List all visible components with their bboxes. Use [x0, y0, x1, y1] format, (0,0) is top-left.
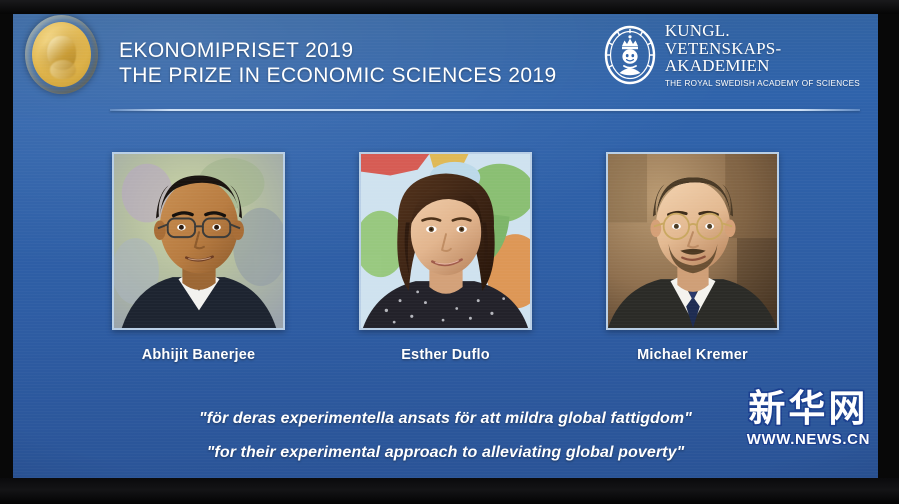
slide-header: EKONOMIPRISET 2019 THE PRIZE IN ECONOMIC… — [13, 14, 878, 96]
laureate-name: Esther Duflo — [401, 347, 490, 363]
header-divider — [110, 109, 860, 111]
laureates-row: Abhijit Banerjee — [13, 152, 878, 363]
xinhua-logo-text: 新华网 — [747, 389, 870, 429]
title-english: THE PRIZE IN ECONOMIC SCIENCES 2019 — [119, 63, 557, 88]
medal-profile-relief-lower — [50, 60, 76, 80]
portrait-esther-duflo — [359, 152, 532, 330]
laureate-card: Abhijit Banerjee — [111, 152, 286, 363]
title-swedish: EKONOMIPRISET 2019 — [119, 38, 557, 63]
academy-name-line3: AKADEMIEN — [665, 57, 860, 75]
laureate-card: Esther Duflo — [358, 152, 533, 363]
laureate-name: Abhijit Banerjee — [142, 347, 256, 363]
academy-subtitle: THE ROYAL SWEDISH ACADEMY OF SCIENCES — [665, 79, 860, 88]
portrait-michael-kremer — [606, 152, 779, 330]
academy-name-line2: VETENSKAPS- — [665, 40, 860, 58]
medal-face — [32, 22, 91, 87]
screen-bezel-bottom — [0, 478, 899, 504]
academy-text: KUNGL. VETENSKAPS- AKADEMIEN THE ROYAL S… — [665, 22, 860, 88]
screen-bezel-top — [0, 0, 899, 14]
xinhua-url: WWW.NEWS.CN — [747, 431, 870, 448]
laureate-card: Michael Kremer — [605, 152, 780, 363]
laureate-name: Michael Kremer — [637, 347, 748, 363]
page-title: EKONOMIPRISET 2019 THE PRIZE IN ECONOMIC… — [119, 38, 557, 88]
academy-lockup: KUNGL. VETENSKAPS- AKADEMIEN THE ROYAL S… — [604, 22, 860, 88]
royal-academy-seal-icon — [604, 25, 656, 85]
academy-name-line1: KUNGL. — [665, 22, 860, 40]
xinhua-watermark: 新华网 WWW.NEWS.CN — [747, 389, 870, 448]
presentation-slide: EKONOMIPRISET 2019 THE PRIZE IN ECONOMIC… — [13, 14, 878, 478]
nobel-medal-icon — [25, 15, 98, 94]
portrait-abhijit-banerjee — [112, 152, 285, 330]
projection-screen: EKONOMIPRISET 2019 THE PRIZE IN ECONOMIC… — [0, 0, 899, 504]
